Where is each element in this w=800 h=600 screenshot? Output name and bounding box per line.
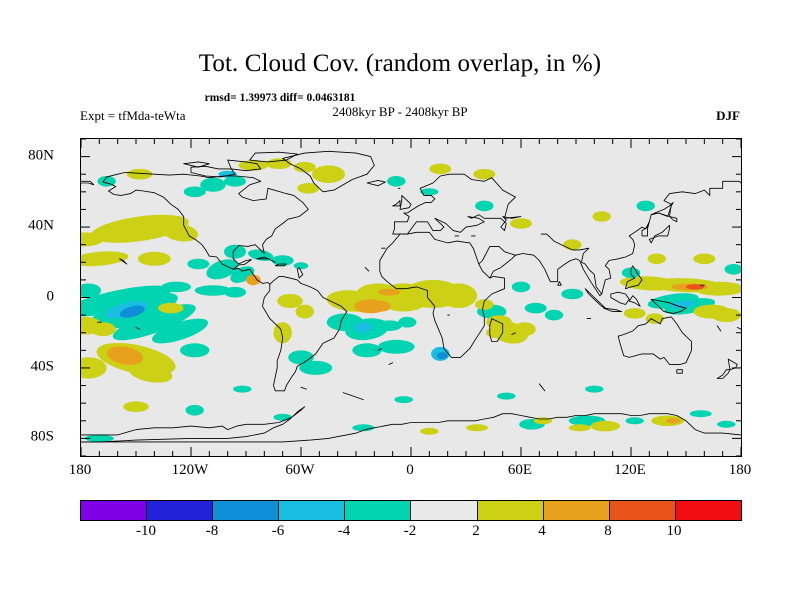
map-plot-area bbox=[80, 138, 742, 457]
colorbar-segment-0[interactable] bbox=[81, 501, 147, 520]
anomaly-blob bbox=[512, 282, 530, 293]
colorbar-segment-1[interactable] bbox=[147, 501, 213, 520]
anomaly-blob bbox=[387, 176, 405, 187]
anomaly-blob bbox=[294, 262, 309, 269]
y-tick-label-80S: 80S bbox=[31, 429, 54, 446]
anomaly-blob bbox=[626, 417, 644, 424]
anomaly-blob bbox=[545, 310, 563, 321]
anomaly-blob bbox=[593, 211, 611, 222]
colorbar-segment-2[interactable] bbox=[213, 501, 279, 520]
anomaly-blob bbox=[312, 165, 345, 183]
anomaly-blob bbox=[352, 343, 381, 357]
season-label: DJF bbox=[716, 108, 740, 124]
anomaly-blob bbox=[585, 386, 603, 393]
anomaly-blob bbox=[296, 305, 314, 319]
colorbar-tick--4: -4 bbox=[338, 523, 351, 540]
anomaly-blob bbox=[187, 259, 209, 270]
x-tick-label-0: 0 bbox=[406, 462, 414, 479]
x-tick-label-120W: 120W bbox=[172, 462, 209, 479]
y-tick-label-40N: 40N bbox=[28, 218, 54, 235]
colorbar-tick-4: 4 bbox=[538, 523, 546, 540]
colorbar-segment-8[interactable] bbox=[610, 501, 676, 520]
anomaly-blob bbox=[591, 421, 620, 432]
anomaly-blob bbox=[299, 361, 332, 375]
colorbar-tick-2: 2 bbox=[472, 523, 480, 540]
x-tick-label-60W: 60W bbox=[285, 462, 314, 479]
colorbar-tick--10: -10 bbox=[136, 523, 156, 540]
anomaly-blob bbox=[525, 303, 547, 314]
colorbar-tick--2: -2 bbox=[404, 523, 417, 540]
period-label: 2408kyr BP - 2408kyr BP bbox=[0, 104, 800, 120]
colorbar[interactable] bbox=[80, 500, 742, 521]
anomaly-blob bbox=[180, 343, 209, 357]
anomaly-blob bbox=[123, 401, 149, 412]
anomaly-blob bbox=[233, 386, 251, 393]
anomaly-blob bbox=[138, 252, 171, 266]
colorbar-segment-4[interactable] bbox=[345, 501, 411, 520]
anomaly-blob bbox=[561, 289, 583, 300]
colorbar-tick--8: -8 bbox=[206, 523, 219, 540]
anomaly-blob bbox=[510, 218, 532, 229]
anomaly-blob bbox=[158, 303, 184, 314]
anomaly-blob bbox=[395, 396, 413, 403]
anomaly-blob bbox=[277, 294, 303, 308]
colorbar-segment-5[interactable] bbox=[411, 501, 477, 520]
anomaly-blob bbox=[648, 254, 666, 265]
y-tick-label-0: 0 bbox=[47, 288, 55, 305]
x-tick-label-120E: 120E bbox=[614, 462, 646, 479]
anomaly-blob bbox=[440, 283, 477, 308]
colorbar-segment-6[interactable] bbox=[478, 501, 544, 520]
world-map-anomaly-field bbox=[81, 139, 741, 456]
anomaly-blob bbox=[486, 327, 504, 338]
anomaly-blob bbox=[693, 254, 715, 265]
anomaly-blob bbox=[637, 201, 655, 212]
anomaly-blob bbox=[717, 421, 735, 428]
figure-canvas: Tot. Cloud Cov. (random overlap, in %) r… bbox=[0, 0, 800, 600]
y-tick-label-40S: 40S bbox=[31, 358, 54, 375]
anomaly-blob bbox=[666, 418, 681, 424]
anomaly-blob bbox=[429, 164, 451, 175]
x-tick-label-180: 180 bbox=[69, 462, 92, 479]
anomaly-blob bbox=[475, 201, 493, 212]
colorbar-tick-8: 8 bbox=[604, 523, 612, 540]
anomaly-blob bbox=[398, 317, 416, 328]
colorbar-tick--6: -6 bbox=[272, 523, 285, 540]
anomaly-blob bbox=[246, 275, 261, 286]
y-tick-label-80N: 80N bbox=[28, 147, 54, 164]
anomaly-blob bbox=[514, 322, 536, 336]
colorbar-segment-3[interactable] bbox=[279, 501, 345, 520]
colorbar-tick-10: 10 bbox=[667, 523, 682, 540]
anomaly-blob bbox=[90, 322, 116, 336]
anomaly-blob bbox=[378, 289, 400, 296]
anomaly-blob bbox=[376, 320, 402, 331]
anomaly-blob bbox=[200, 178, 226, 192]
anomaly-blob bbox=[624, 308, 646, 319]
anomaly-blob bbox=[690, 410, 712, 417]
anomaly-blob bbox=[378, 340, 415, 354]
anomaly-blob bbox=[437, 352, 448, 359]
anomaly-blob bbox=[563, 239, 581, 250]
x-tick-label-180: 180 bbox=[729, 462, 752, 479]
anomaly-blob bbox=[186, 405, 204, 416]
statistics-line: rmsd= 1.39973 diff= 0.0463181 bbox=[0, 92, 560, 104]
anomaly-blob bbox=[373, 301, 391, 312]
colorbar-segment-7[interactable] bbox=[544, 501, 610, 520]
anomaly-blob bbox=[420, 428, 438, 435]
colorbar-segment-9[interactable] bbox=[676, 501, 741, 520]
x-tick-label-60E: 60E bbox=[508, 462, 532, 479]
anomaly-blob bbox=[466, 424, 488, 431]
anomaly-blob bbox=[569, 424, 591, 431]
anomaly-blob bbox=[497, 393, 515, 400]
page-title: Tot. Cloud Cov. (random overlap, in %) bbox=[0, 50, 800, 78]
anomaly-blob bbox=[224, 245, 246, 259]
anomaly-blob bbox=[224, 287, 246, 298]
anomaly-blob bbox=[266, 158, 292, 169]
anomaly-blob bbox=[354, 322, 372, 333]
